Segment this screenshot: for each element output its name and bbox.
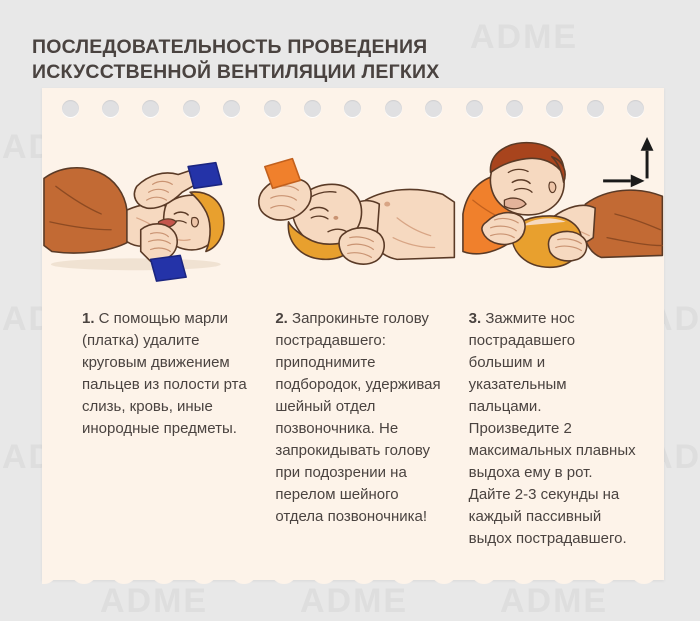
steps-text-row: 1. С помощью марли (платка) удалите круг… — [42, 293, 664, 565]
punch-hole — [546, 100, 563, 117]
step-3-number: 3. — [469, 310, 482, 327]
step-3-body: Зажмите нос пострадавшего большим и указ… — [469, 310, 636, 547]
page-title-line-1: ПОСЛЕДОВАТЕЛЬНОСТЬ ПРОВЕДЕНИЯ — [32, 35, 652, 60]
step-3-text: 3. Зажмите нос пострадавшего большим и у… — [465, 308, 642, 550]
watermark-adme: ADME — [100, 582, 208, 621]
watermark-adme: ADME — [300, 582, 408, 621]
punch-hole — [264, 100, 281, 117]
step-1-text: 1. С помощью марли (платка) удалите круг… — [64, 308, 271, 550]
illustration-row — [42, 126, 664, 296]
punch-hole — [425, 100, 442, 117]
punch-hole — [344, 100, 361, 117]
step-1-body: С помощью марли (платка) удалите круговы… — [82, 310, 247, 437]
watermark-adme: ADME — [500, 582, 608, 621]
instruction-card: 1. С помощью марли (платка) удалите круг… — [42, 88, 664, 580]
punch-hole — [627, 100, 644, 117]
punch-hole — [223, 100, 240, 117]
punch-hole — [304, 100, 321, 117]
punch-hole — [62, 100, 79, 117]
clearing-airway-illustration — [42, 126, 249, 296]
rescue-breathing-illustration — [457, 126, 664, 296]
punch-hole-row — [42, 97, 664, 119]
step-2-number: 2. — [275, 310, 288, 327]
punch-hole — [385, 100, 402, 117]
punch-hole — [142, 100, 159, 117]
page-title-line-2: ИСКУССТВЕННОЙ ВЕНТИЛЯЦИИ ЛЕГКИХ — [32, 60, 652, 85]
punch-hole — [102, 100, 119, 117]
step-1-number: 1. — [82, 310, 95, 327]
punch-hole — [587, 100, 604, 117]
step-2-text: 2. Запрокиньте голову пострадавшего: при… — [271, 308, 464, 550]
head-tilt-chin-lift-illustration — [249, 126, 456, 296]
punch-hole — [183, 100, 200, 117]
airflow-arrows — [603, 137, 653, 187]
card-scalloped-edge — [42, 574, 664, 586]
punch-hole — [506, 100, 523, 117]
step-2-body: Запрокиньте голову пострадавшего: припод… — [275, 310, 440, 525]
page-title: ПОСЛЕДОВАТЕЛЬНОСТЬ ПРОВЕДЕНИЯ ИСКУССТВЕН… — [32, 35, 652, 85]
punch-hole — [466, 100, 483, 117]
